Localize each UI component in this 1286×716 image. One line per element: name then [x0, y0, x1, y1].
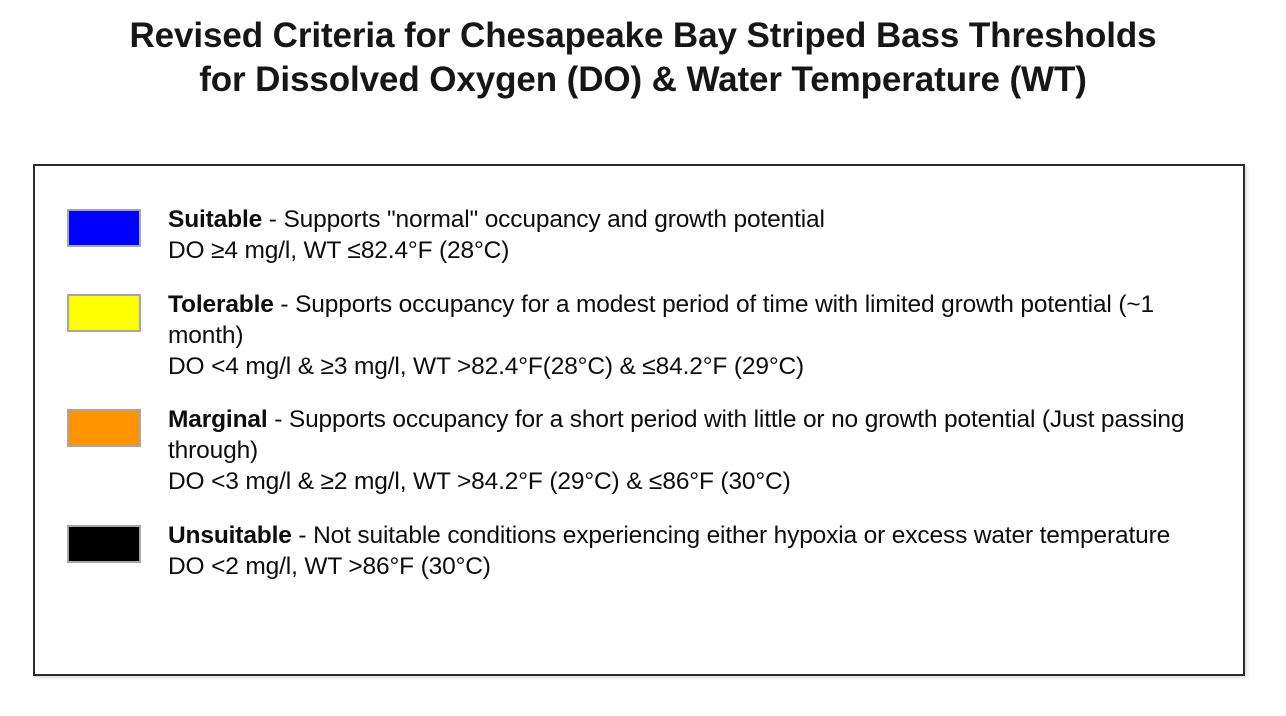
legend-item-criteria: DO <4 mg/l & ≥3 mg/l, WT >82.4°F(28°C) &… [168, 351, 1225, 382]
color-swatch-orange [67, 409, 141, 447]
legend-item-description-text: Not suitable conditions experiencing eit… [313, 522, 1170, 549]
legend-item-text: Suitable - Supports "normal" occupancy a… [168, 204, 1225, 266]
legend-item-name: Unsuitable [168, 522, 292, 549]
legend-item-name: Tolerable [168, 291, 274, 318]
color-swatch-yellow [67, 294, 141, 332]
legend-item-description-text: Supports occupancy for a short period wi… [168, 406, 1184, 464]
legend-item-separator: - [274, 291, 295, 318]
legend-item-separator: - [268, 406, 289, 433]
legend-item-criteria: DO <2 mg/l, WT >86°F (30°C) [168, 551, 1225, 582]
legend-item-text: Marginal - Supports occupancy for a shor… [168, 404, 1225, 497]
legend-item-separator: - [262, 206, 283, 233]
page-title-line-2: for Dissolved Oxygen (DO) & Water Temper… [0, 58, 1286, 102]
legend-item-description: Suitable - Supports "normal" occupancy a… [168, 204, 1225, 235]
legend-item-description: Marginal - Supports occupancy for a shor… [168, 404, 1225, 466]
legend-item-criteria: DO ≥4 mg/l, WT ≤82.4°F (28°C) [168, 235, 1225, 266]
legend-item-criteria: DO <3 mg/l & ≥2 mg/l, WT >84.2°F (29°C) … [168, 466, 1225, 497]
color-swatch-blue [67, 209, 141, 247]
legend-item-description: Tolerable - Supports occupancy for a mod… [168, 289, 1225, 351]
slide-canvas: Revised Criteria for Chesapeake Bay Stri… [0, 0, 1286, 716]
legend-item-description-text: Supports "normal" occupancy and growth p… [283, 206, 824, 233]
legend-item-separator: - [292, 522, 313, 549]
legend-item-text: Unsuitable - Not suitable conditions exp… [168, 520, 1225, 582]
legend-item-text: Tolerable - Supports occupancy for a mod… [168, 289, 1225, 382]
legend-panel: Suitable - Supports "normal" occupancy a… [33, 164, 1245, 676]
legend-item-description-text: Supports occupancy for a modest period o… [168, 291, 1154, 349]
color-swatch-black [67, 525, 141, 563]
legend-item-name: Marginal [168, 406, 268, 433]
legend-item-name: Suitable [168, 206, 262, 233]
legend-item-description: Unsuitable - Not suitable conditions exp… [168, 520, 1225, 551]
page-title-line-1: Revised Criteria for Chesapeake Bay Stri… [0, 14, 1286, 58]
page-title: Revised Criteria for Chesapeake Bay Stri… [0, 14, 1286, 102]
